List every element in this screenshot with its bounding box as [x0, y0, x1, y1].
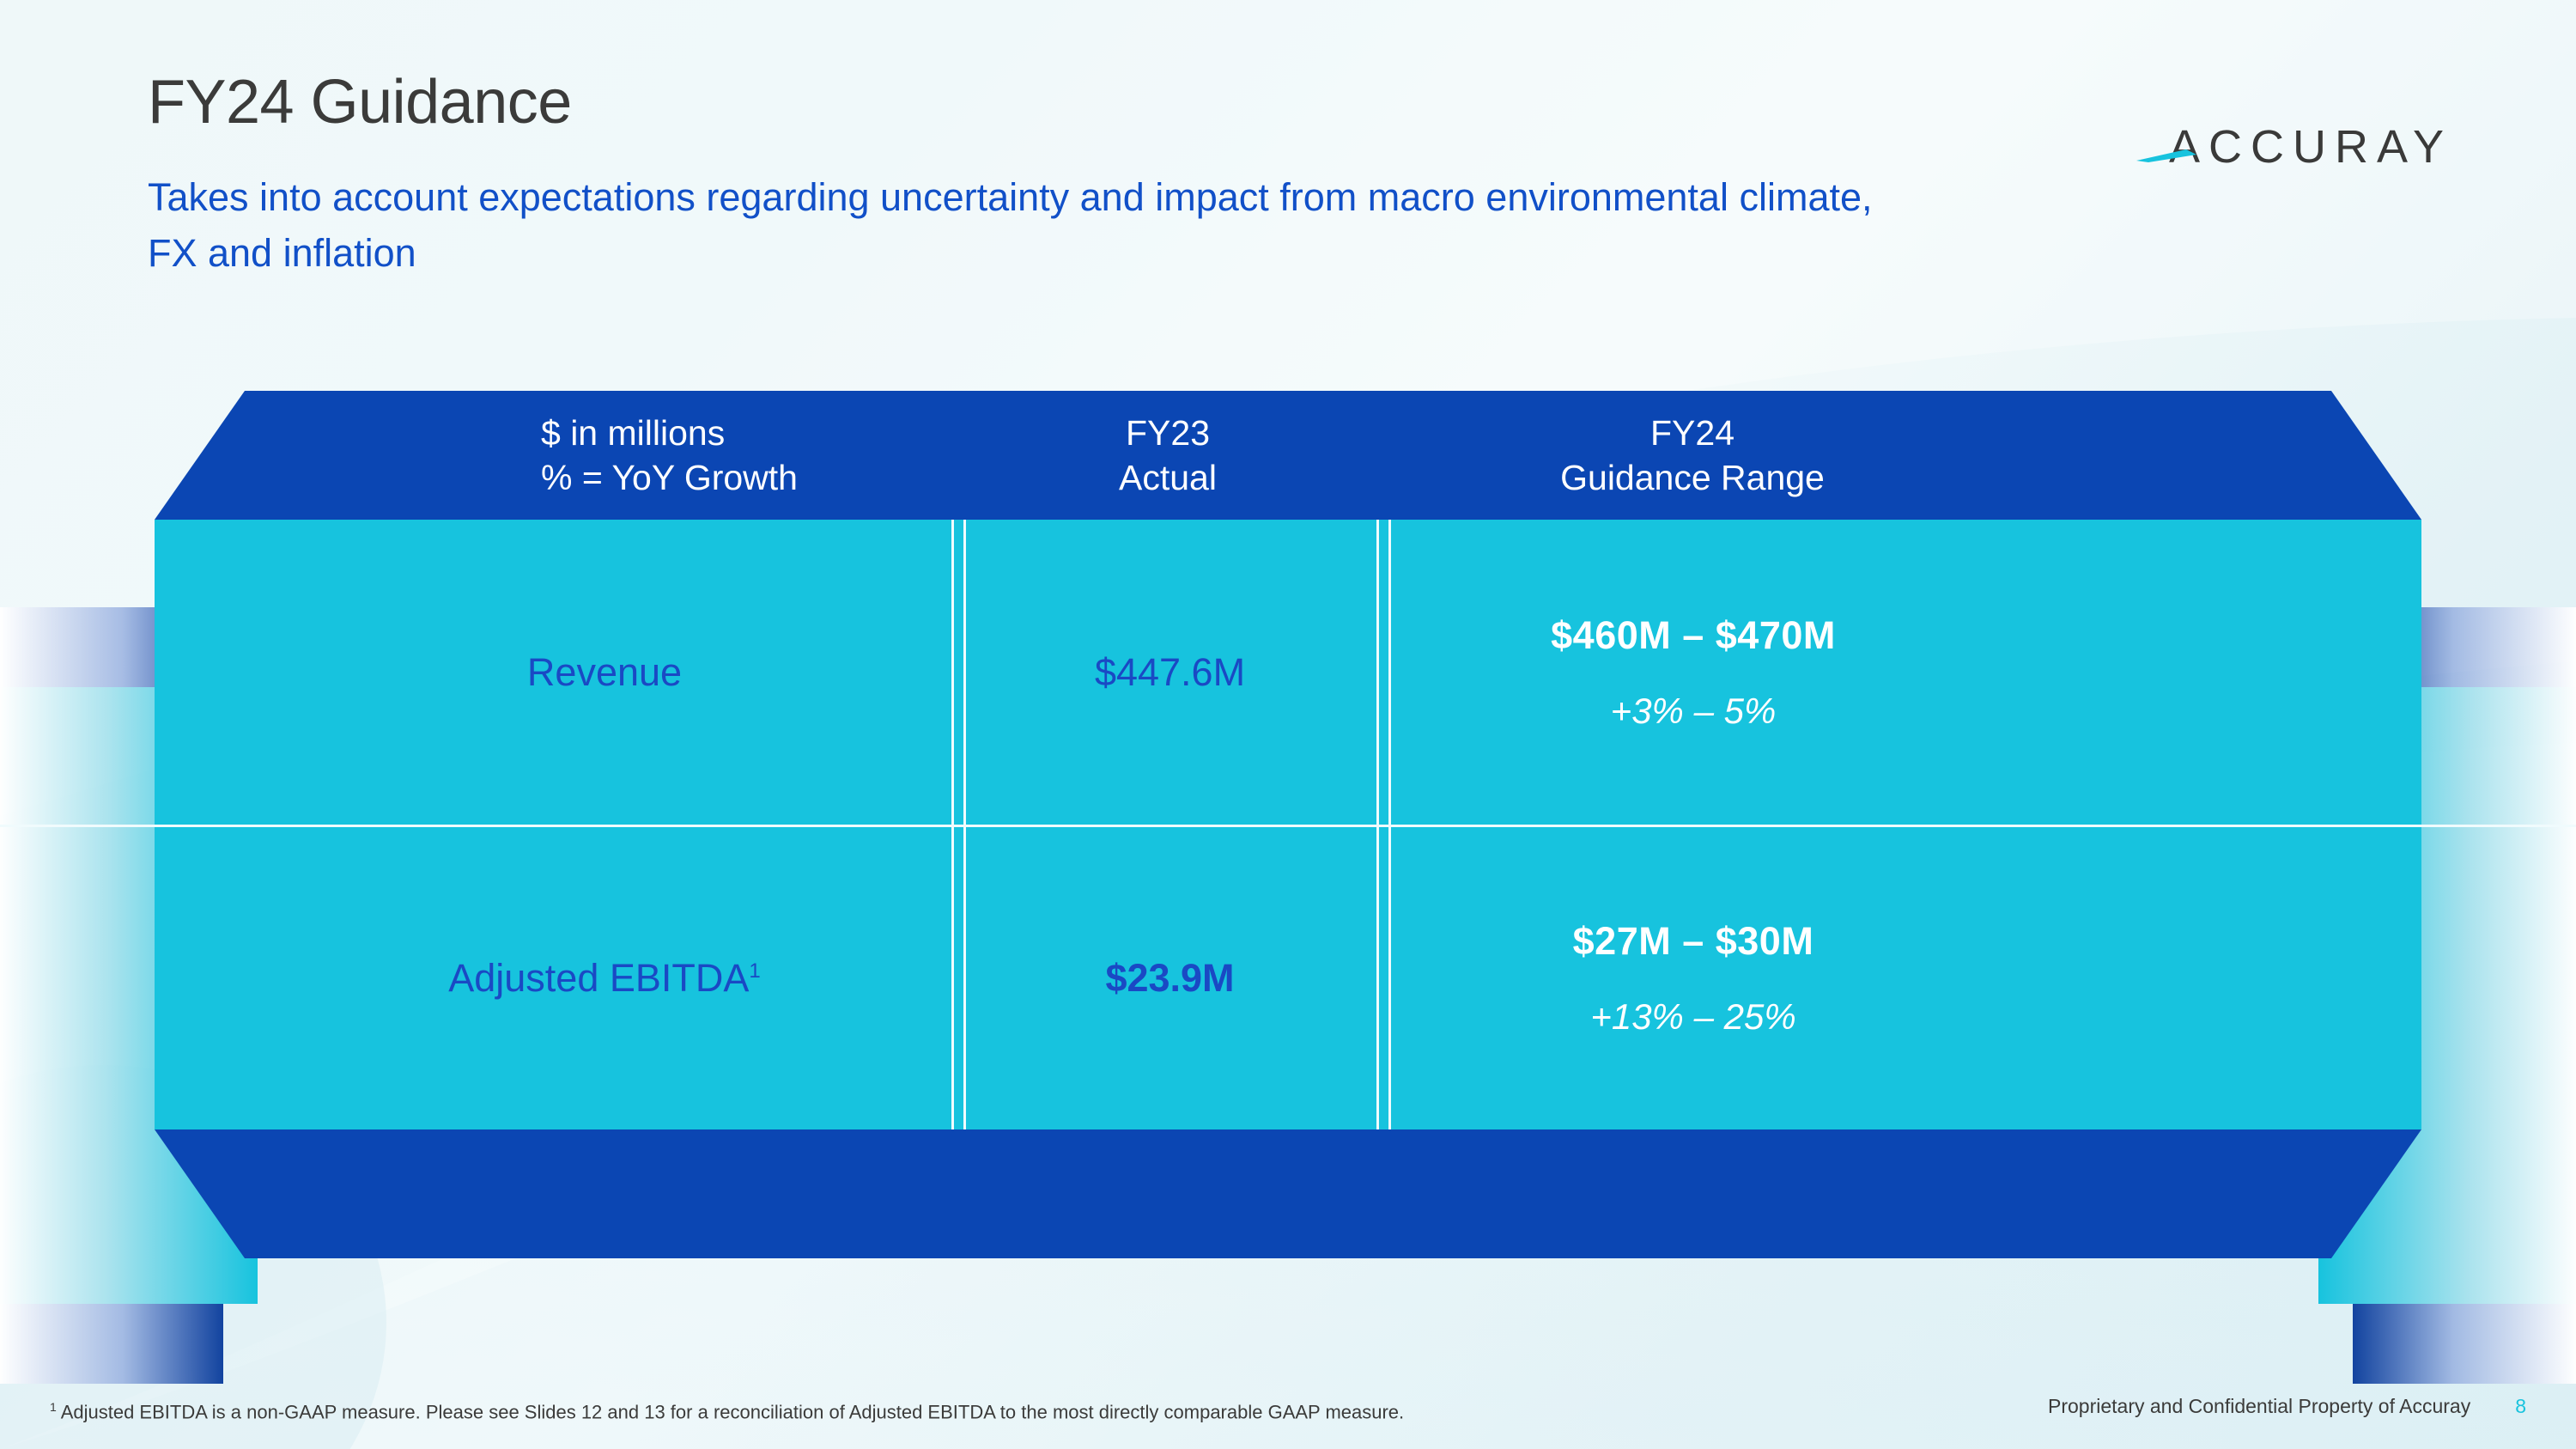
- header-line-2: % = YoY Growth: [541, 455, 798, 500]
- ribbon-tail-left-bottom: [0, 1304, 223, 1384]
- slide-footer: Proprietary and Confidential Property of…: [2048, 1395, 2526, 1418]
- row-label-text: Revenue: [527, 650, 682, 694]
- accuray-swoosh-icon: [2136, 149, 2196, 163]
- fy24-growth-revenue: +3% – 5%: [1611, 691, 1777, 732]
- row-label-text: Adjusted EBITDA: [448, 956, 749, 1000]
- row-label-revenue: Revenue: [527, 650, 682, 695]
- accuray-logo: ACCURAY: [2135, 120, 2454, 174]
- page-title: FY24 Guidance: [148, 67, 572, 137]
- fy24-range-ebitda: $27M – $30M: [1573, 919, 1814, 964]
- page-number: 8: [2515, 1395, 2526, 1418]
- fy24-growth-ebitda: +13% – 25%: [1590, 996, 1795, 1038]
- guidance-ribbon: $ in millions % = YoY Growth FY23 Actual…: [0, 391, 2576, 1258]
- table-cell-fy23-ebitda: $23.9M: [963, 827, 1376, 1129]
- header-line-1: FY23: [1126, 411, 1210, 455]
- slide-canvas: FY24 Guidance Takes into account expecta…: [0, 0, 2576, 1449]
- footnote-marker: 1: [50, 1400, 57, 1414]
- table-row: Adjusted EBITDA1: [258, 827, 951, 1129]
- logo-wordmark: ACCURAY: [2135, 120, 2454, 174]
- table-cell-fy24-ebitda: $27M – $30M +13% – 25%: [1388, 827, 2301, 1129]
- footnote-marker-icon: 1: [749, 959, 760, 983]
- table-cell-fy23-revenue: $447.6M: [963, 520, 1376, 825]
- page-subtitle: Takes into account expectations regardin…: [148, 169, 1908, 282]
- table-header-cell-fy23: FY23 Actual: [953, 391, 1382, 520]
- ribbon-tail-right-bottom: [2353, 1304, 2576, 1384]
- header-line-1: FY24: [1473, 411, 1911, 455]
- table-header-row: $ in millions % = YoY Growth FY23 Actual…: [0, 391, 2576, 520]
- confidentiality-notice: Proprietary and Confidential Property of…: [2048, 1395, 2470, 1418]
- table-header-cell-metric: $ in millions % = YoY Growth: [541, 391, 953, 520]
- row-label-adjusted-ebitda: Adjusted EBITDA1: [448, 956, 761, 1001]
- header-line-1: $ in millions: [541, 411, 725, 455]
- guidance-table: $ in millions % = YoY Growth FY23 Actual…: [0, 391, 2576, 1258]
- footnote-text: Adjusted EBITDA is a non-GAAP measure. P…: [57, 1401, 1404, 1422]
- fy23-actual-ebitda: $23.9M: [1105, 956, 1234, 1001]
- fy23-actual-revenue: $447.6M: [1095, 650, 1245, 695]
- header-line-2: Actual: [1119, 455, 1217, 500]
- table-header-cell-fy24: FY24 Guidance Range: [1388, 391, 2504, 520]
- header-line-2: Guidance Range: [1473, 455, 1911, 500]
- footnote: 1 Adjusted EBITDA is a non-GAAP measure.…: [50, 1400, 1404, 1423]
- table-cell-fy24-revenue: $460M – $470M +3% – 5%: [1388, 520, 2301, 825]
- table-row: Revenue: [258, 520, 951, 825]
- fy24-range-revenue: $460M – $470M: [1551, 613, 1836, 658]
